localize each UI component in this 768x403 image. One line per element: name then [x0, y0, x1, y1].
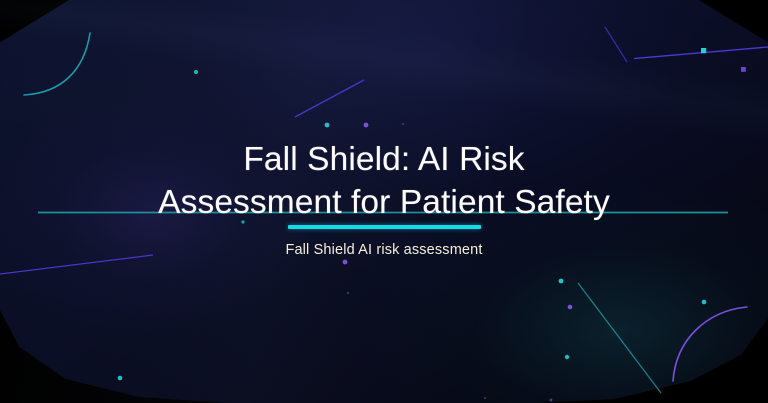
page-title: Fall Shield: AI Risk Assessment for Pati…: [104, 138, 664, 224]
cyan-accent-bar: [288, 225, 481, 229]
slide-subtitle: Fall Shield AI risk assessment: [74, 240, 694, 260]
title-slide: Fall Shield: AI Risk Assessment for Pati…: [0, 0, 768, 403]
